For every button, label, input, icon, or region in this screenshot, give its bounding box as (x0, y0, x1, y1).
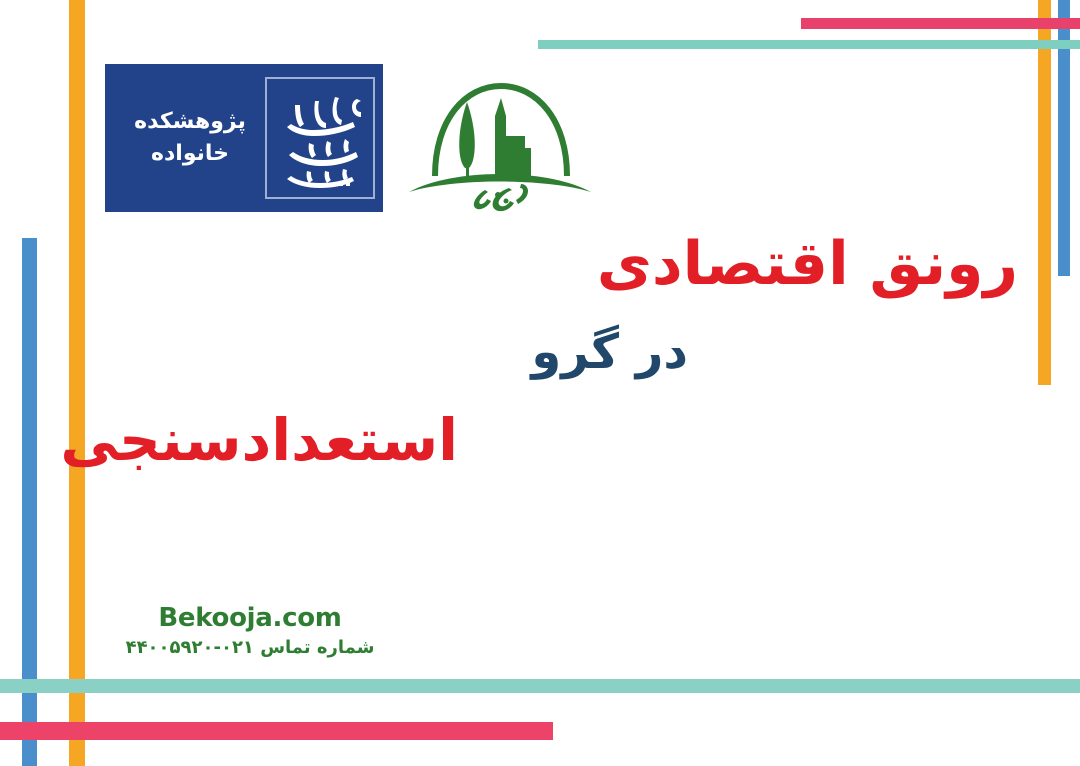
decor-bottom-pink-rule (0, 722, 553, 740)
decor-right-orange-bar (1038, 0, 1051, 385)
logo-row: پژوهشکده خانواده (105, 64, 595, 214)
decor-bottom-teal-rule (0, 679, 1080, 693)
bekooja-logo (405, 64, 595, 214)
phone-number-label: شماره تماس ۰۲۱-۴۴۰۰۵۹۲۰ (100, 637, 400, 659)
contact-block: Bekooja.com شماره تماس ۰۲۱-۴۴۰۰۵۹۲۰ (100, 604, 400, 658)
university-logo-line1: پژوهشکده (134, 111, 246, 133)
title-line-2: در گرو (118, 327, 1018, 379)
title-line-3: استعدادسنجی (118, 409, 1018, 472)
university-logo-wordmark: پژوهشکده خانواده (115, 111, 265, 165)
title-line-1: رونق اقتصادی (118, 232, 1018, 297)
university-logo-line2: خانواده (151, 143, 229, 165)
decor-top-pink-rule (801, 18, 1080, 29)
slide-canvas: پژوهشکده خانواده (0, 0, 1080, 766)
decor-left-orange-bar (69, 0, 85, 766)
decor-top-teal-rule (538, 40, 1080, 49)
university-seal-icon (265, 77, 375, 199)
website-label[interactable]: Bekooja.com (100, 604, 400, 633)
bekooja-wordmark-glyphs (474, 184, 528, 211)
slide-title: رونق اقتصادی در گرو استعدادسنجی (118, 232, 1018, 471)
university-logo: پژوهشکده خانواده (105, 64, 383, 212)
